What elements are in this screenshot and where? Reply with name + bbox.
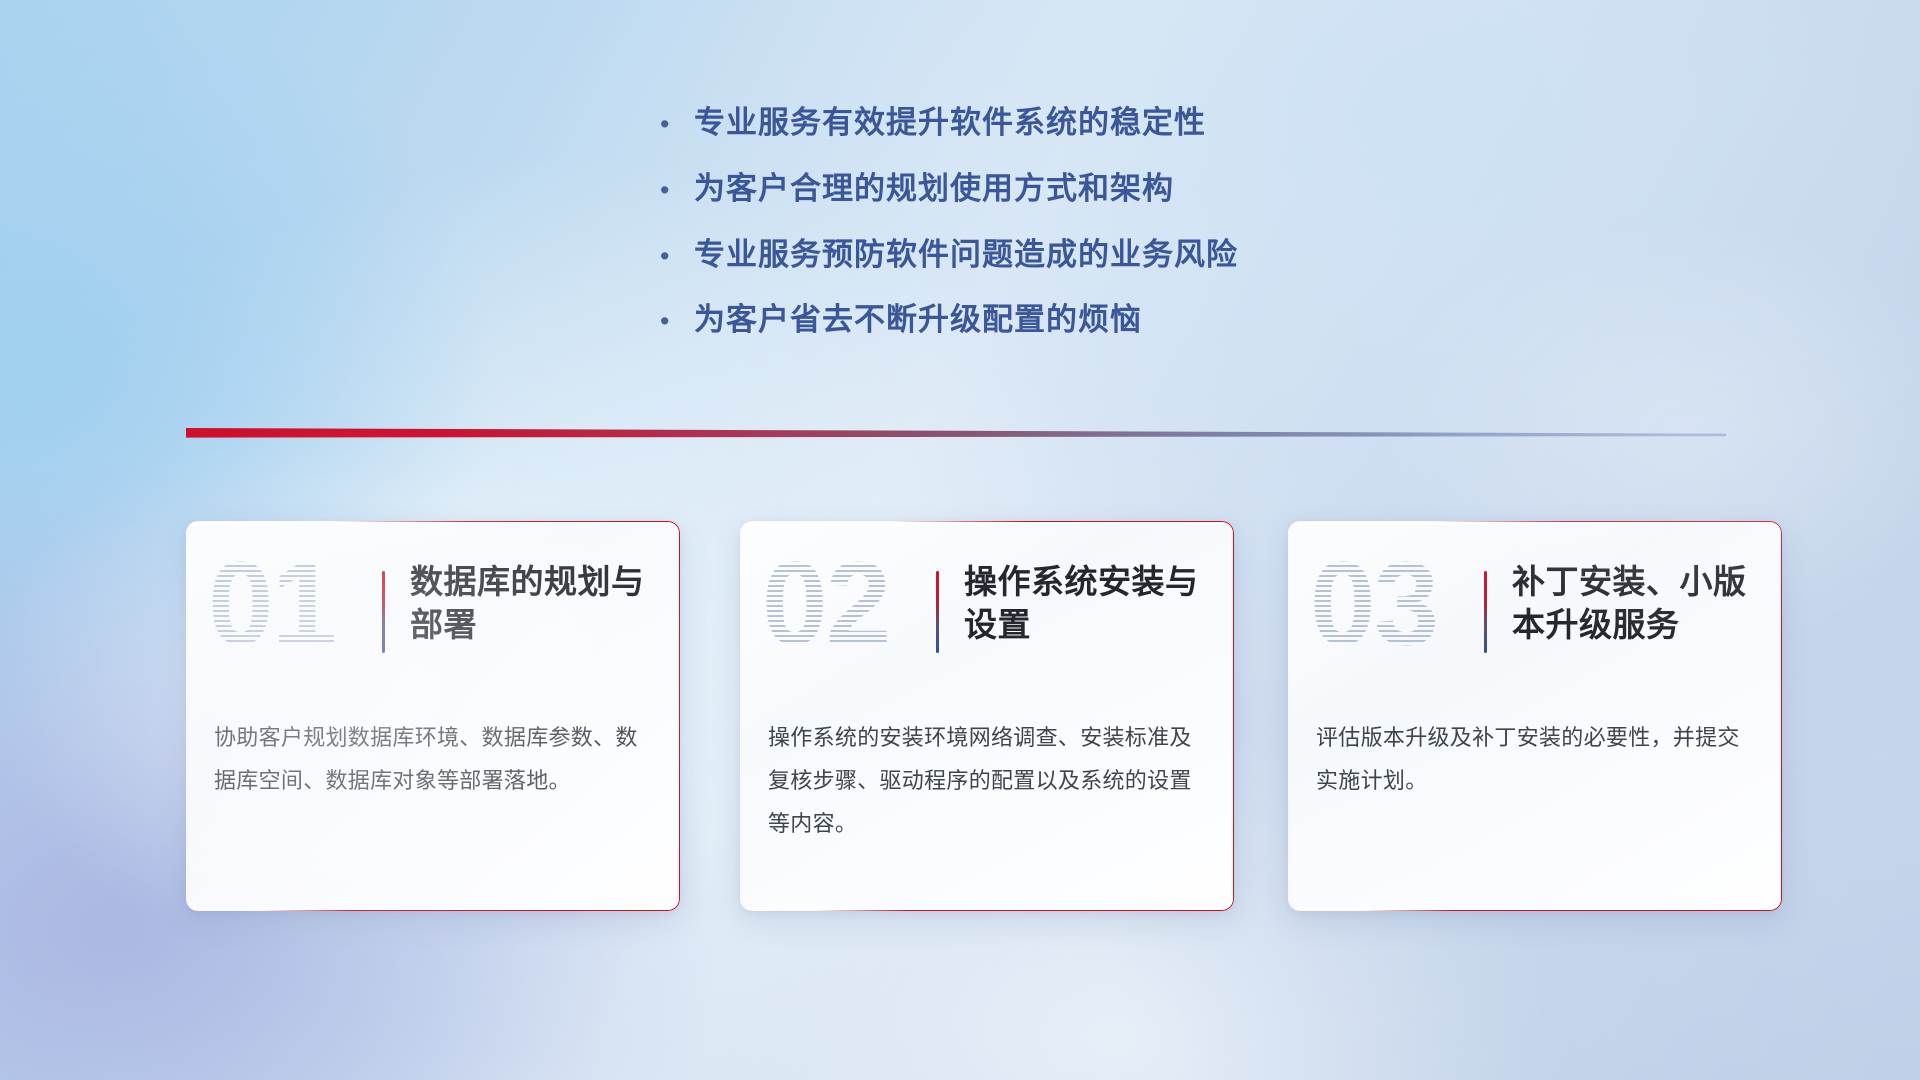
service-card-03[interactable]: 03 补丁安装、小版本升级服务 评估版本升级及补丁安装的必要性，并提交实施计划。 <box>1288 521 1782 911</box>
list-item: • 为客户合理的规划使用方式和架构 <box>660 170 1420 208</box>
section-divider <box>186 424 1726 444</box>
bullet-dot-icon: • <box>660 243 694 270</box>
card-index-number: 01 <box>208 545 335 663</box>
service-card-01[interactable]: 01 数据库的规划与部署 协助客户规划数据库环境、数据库参数、数据库空间、数据库… <box>186 521 680 911</box>
card-header: 03 补丁安装、小版本升级服务 <box>1288 521 1782 693</box>
bullet-text: 专业服务预防软件问题造成的业务风险 <box>694 236 1238 274</box>
card-title-divider-bar <box>936 571 939 653</box>
bullet-dot-icon: • <box>660 111 694 138</box>
card-header: 01 数据库的规划与部署 <box>186 521 680 693</box>
service-card-02[interactable]: 02 操作系统安装与设置 操作系统的安装环境网络调查、安装标准及复核步骤、驱动程… <box>740 521 1234 911</box>
bullet-dot-icon: • <box>660 308 694 335</box>
card-description: 协助客户规划数据库环境、数据库参数、数据库空间、数据库对象等部署落地。 <box>214 717 654 803</box>
bullet-text: 为客户省去不断升级配置的烦恼 <box>694 301 1142 339</box>
bullet-text: 为客户合理的规划使用方式和架构 <box>694 170 1174 208</box>
card-description: 评估版本升级及补丁安装的必要性，并提交实施计划。 <box>1316 717 1756 803</box>
slide-canvas: • 专业服务有效提升软件系统的稳定性 • 为客户合理的规划使用方式和架构 • 专… <box>0 0 1920 1080</box>
divider-shape-icon <box>186 424 1726 444</box>
bullet-text: 专业服务有效提升软件系统的稳定性 <box>694 104 1206 142</box>
list-item: • 为客户省去不断升级配置的烦恼 <box>660 301 1420 339</box>
card-title-divider-bar <box>1484 571 1487 653</box>
card-index-number: 02 <box>762 545 889 663</box>
benefits-bullet-list: • 专业服务有效提升软件系统的稳定性 • 为客户合理的规划使用方式和架构 • 专… <box>660 104 1420 367</box>
list-item: • 专业服务预防软件问题造成的业务风险 <box>660 236 1420 274</box>
card-title-divider-bar <box>382 571 385 653</box>
bullet-dot-icon: • <box>660 177 694 204</box>
card-header: 02 操作系统安装与设置 <box>740 521 1234 693</box>
card-index-number: 03 <box>1310 545 1437 663</box>
card-title: 操作系统安装与设置 <box>964 561 1216 647</box>
card-title: 数据库的规划与部署 <box>410 561 662 647</box>
card-description: 操作系统的安装环境网络调查、安装标准及复核步骤、驱动程序的配置以及系统的设置等内… <box>768 717 1208 846</box>
card-title: 补丁安装、小版本升级服务 <box>1512 561 1764 647</box>
list-item: • 专业服务有效提升软件系统的稳定性 <box>660 104 1420 142</box>
